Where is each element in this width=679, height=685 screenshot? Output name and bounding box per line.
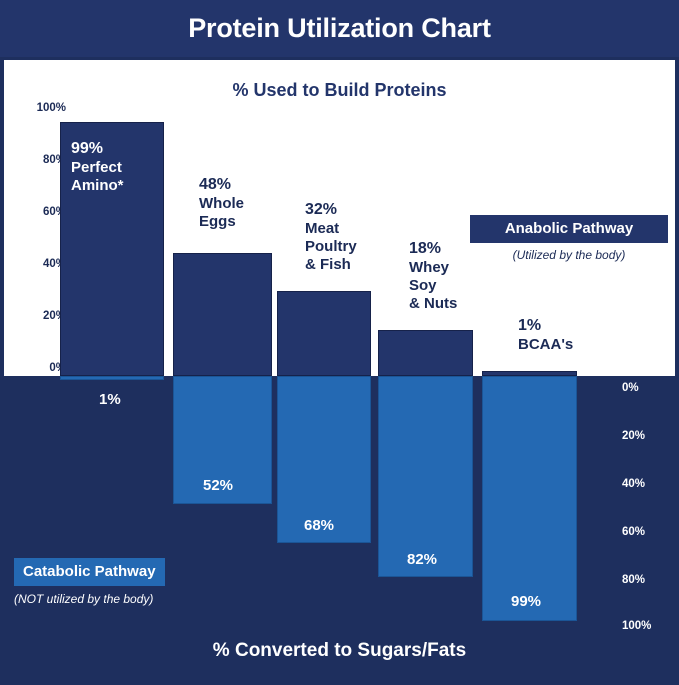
- bar-value-bcaa: 1%: [518, 316, 573, 336]
- bar-value-whey-soy-nuts: 18%: [409, 239, 457, 259]
- bar-name-whole-eggs-line-2: Eggs: [199, 213, 244, 231]
- bar-name-meat-line-3: & Fish: [305, 256, 357, 274]
- axis-right-tick-60: 60%: [622, 526, 645, 538]
- axis-right-tick-20: 20%: [622, 430, 645, 442]
- bar-down-bcaa: [482, 376, 577, 621]
- bar-label-whey-soy-nuts: 18% Whey Soy & Nuts: [409, 239, 457, 313]
- bar-down-whey-soy-nuts: [378, 376, 473, 577]
- bar-label-meat-poultry-fish: 32% Meat Poultry & Fish: [305, 200, 357, 274]
- bar-value-meat-poultry-fish: 32%: [305, 200, 357, 220]
- bar-name-meat-line-1: Meat: [305, 220, 357, 238]
- bar-down-label-perfect-amino: 1%: [99, 391, 121, 408]
- bar-name-whey-line-3: & Nuts: [409, 295, 457, 313]
- bar-down-label-whole-eggs: 52%: [203, 477, 233, 494]
- bar-up-whole-eggs: [173, 253, 272, 376]
- footer-title: % Converted to Sugars/Fats: [0, 640, 679, 662]
- axis-right: 0% 20% 40% 60% 80% 100%: [614, 376, 674, 636]
- bar-group-whey-soy-nuts: 18% Whey Soy & Nuts 82%: [378, 0, 473, 685]
- axis-right-tick-100: 100%: [622, 620, 651, 632]
- bar-name-whole-eggs-line-1: Whole: [199, 195, 244, 213]
- bar-name-meat-line-2: Poultry: [305, 238, 357, 256]
- bar-label-perfect-amino: 99% Perfect Amino*: [71, 139, 124, 195]
- axis-right-tick-80: 80%: [622, 574, 645, 586]
- bar-label-bcaa: 1% BCAA's: [518, 316, 573, 354]
- bar-up-whey-soy-nuts: [378, 330, 473, 376]
- bar-down-perfect-amino: [60, 376, 164, 380]
- bar-down-label-bcaa: 99%: [511, 593, 541, 610]
- bar-down-label-meat-poultry-fish: 68%: [304, 517, 334, 534]
- catabolic-pathway-badge: Catabolic Pathway: [14, 558, 165, 586]
- bar-label-whole-eggs: 48% Whole Eggs: [199, 175, 244, 231]
- bar-down-label-whey-soy-nuts: 82%: [407, 551, 437, 568]
- bar-name-whey-line-2: Soy: [409, 277, 457, 295]
- bar-value-whole-eggs: 48%: [199, 175, 244, 195]
- bar-name-perfect-amino-line-1: Perfect: [71, 159, 124, 177]
- bar-up-meat-poultry-fish: [277, 291, 371, 376]
- axis-right-tick-0: 0%: [622, 382, 639, 394]
- bar-group-bcaa: 1% BCAA's 99%: [482, 0, 577, 685]
- bar-name-whey-line-1: Whey: [409, 259, 457, 277]
- bar-name-bcaa-line-1: BCAA's: [518, 336, 573, 354]
- catabolic-pathway-note: (NOT utilized by the body): [14, 592, 294, 606]
- bar-name-perfect-amino-line-2: Amino*: [71, 177, 124, 195]
- axis-right-tick-40: 40%: [622, 478, 645, 490]
- bar-value-perfect-amino: 99%: [71, 139, 124, 159]
- catabolic-legend: Catabolic Pathway (NOT utilized by the b…: [14, 558, 294, 606]
- protein-utilization-chart: Protein Utilization Chart % Used to Buil…: [0, 0, 679, 685]
